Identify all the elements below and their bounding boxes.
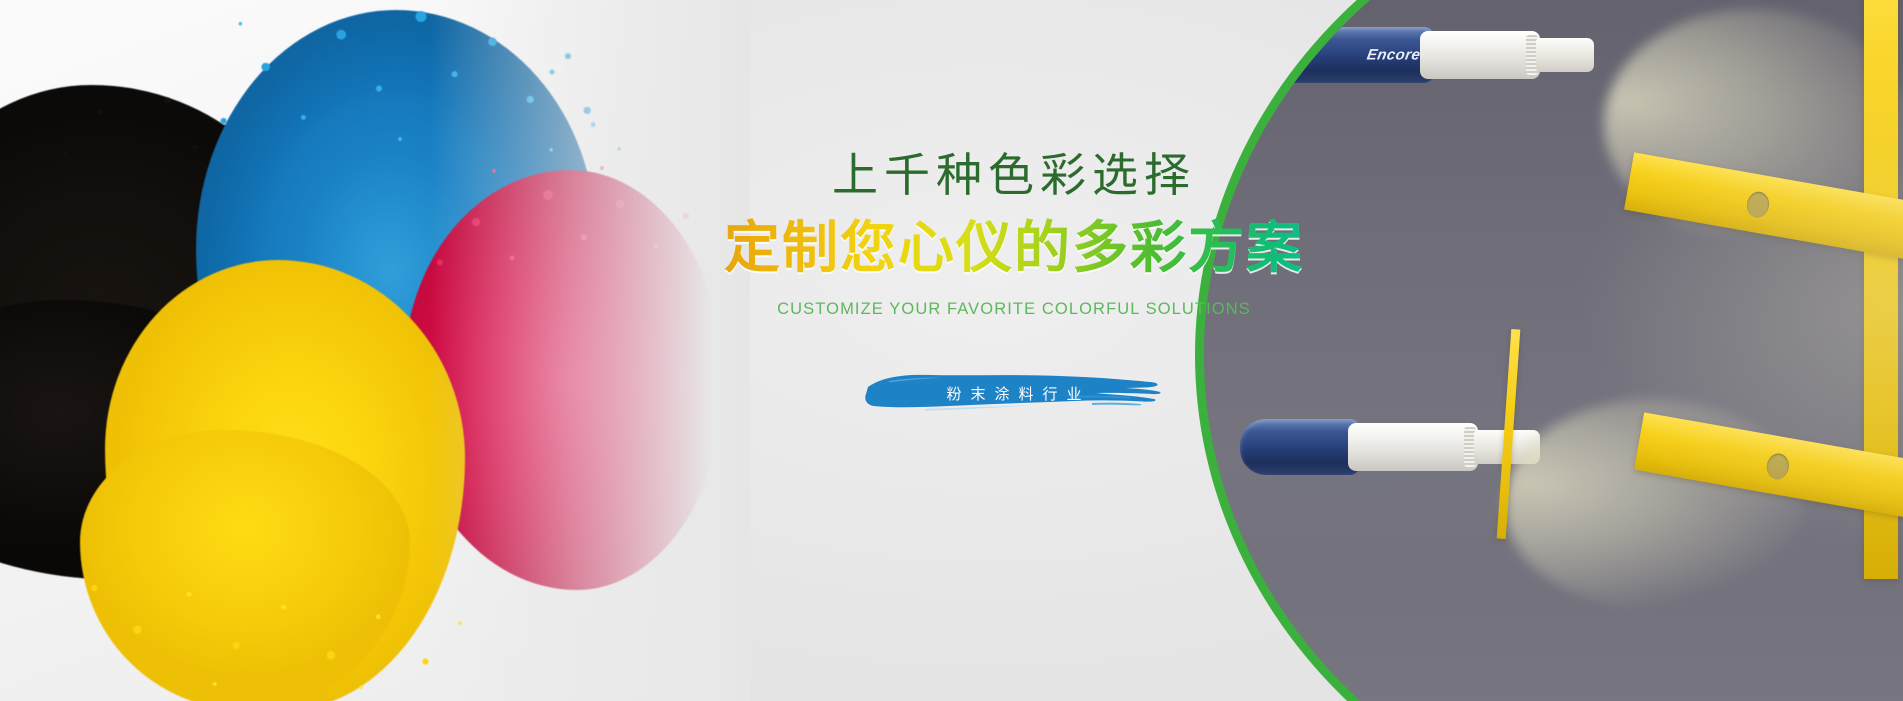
spray-gun-body: Encore: [1204, 27, 1434, 83]
headline-primary: 上千种色彩选择: [664, 150, 1364, 201]
promo-banner: Encore: [0, 0, 1903, 701]
industry-badge: 粉末涂料行业: [864, 365, 1164, 421]
spray-gun-brand-label: Encore: [1365, 47, 1421, 64]
spray-gun-barrel-lower: [1348, 423, 1478, 471]
rack-hole: [1765, 452, 1791, 481]
spray-gun-upper: Encore: [1204, 27, 1594, 83]
headline-secondary: 定制您心仪的多彩方案: [664, 217, 1364, 279]
industry-badge-label: 粉末涂料行业: [864, 365, 1164, 421]
banner-copy: 上千种色彩选择 定制您心仪的多彩方案 CUSTOMIZE YOUR FAVORI…: [664, 150, 1364, 421]
rack-hole: [1745, 190, 1771, 219]
spray-gun-body-lower: [1240, 419, 1360, 475]
booth-floor: [1204, 593, 1903, 701]
spray-gun-nozzle: [1536, 38, 1594, 72]
spray-gun-barrel: [1420, 31, 1540, 79]
cmyk-powder-photo: [0, 0, 700, 701]
yellow-powder-spray: [60, 540, 490, 700]
subline-english: CUSTOMIZE YOUR FAVORITE COLORFUL SOLUTIO…: [664, 300, 1364, 319]
